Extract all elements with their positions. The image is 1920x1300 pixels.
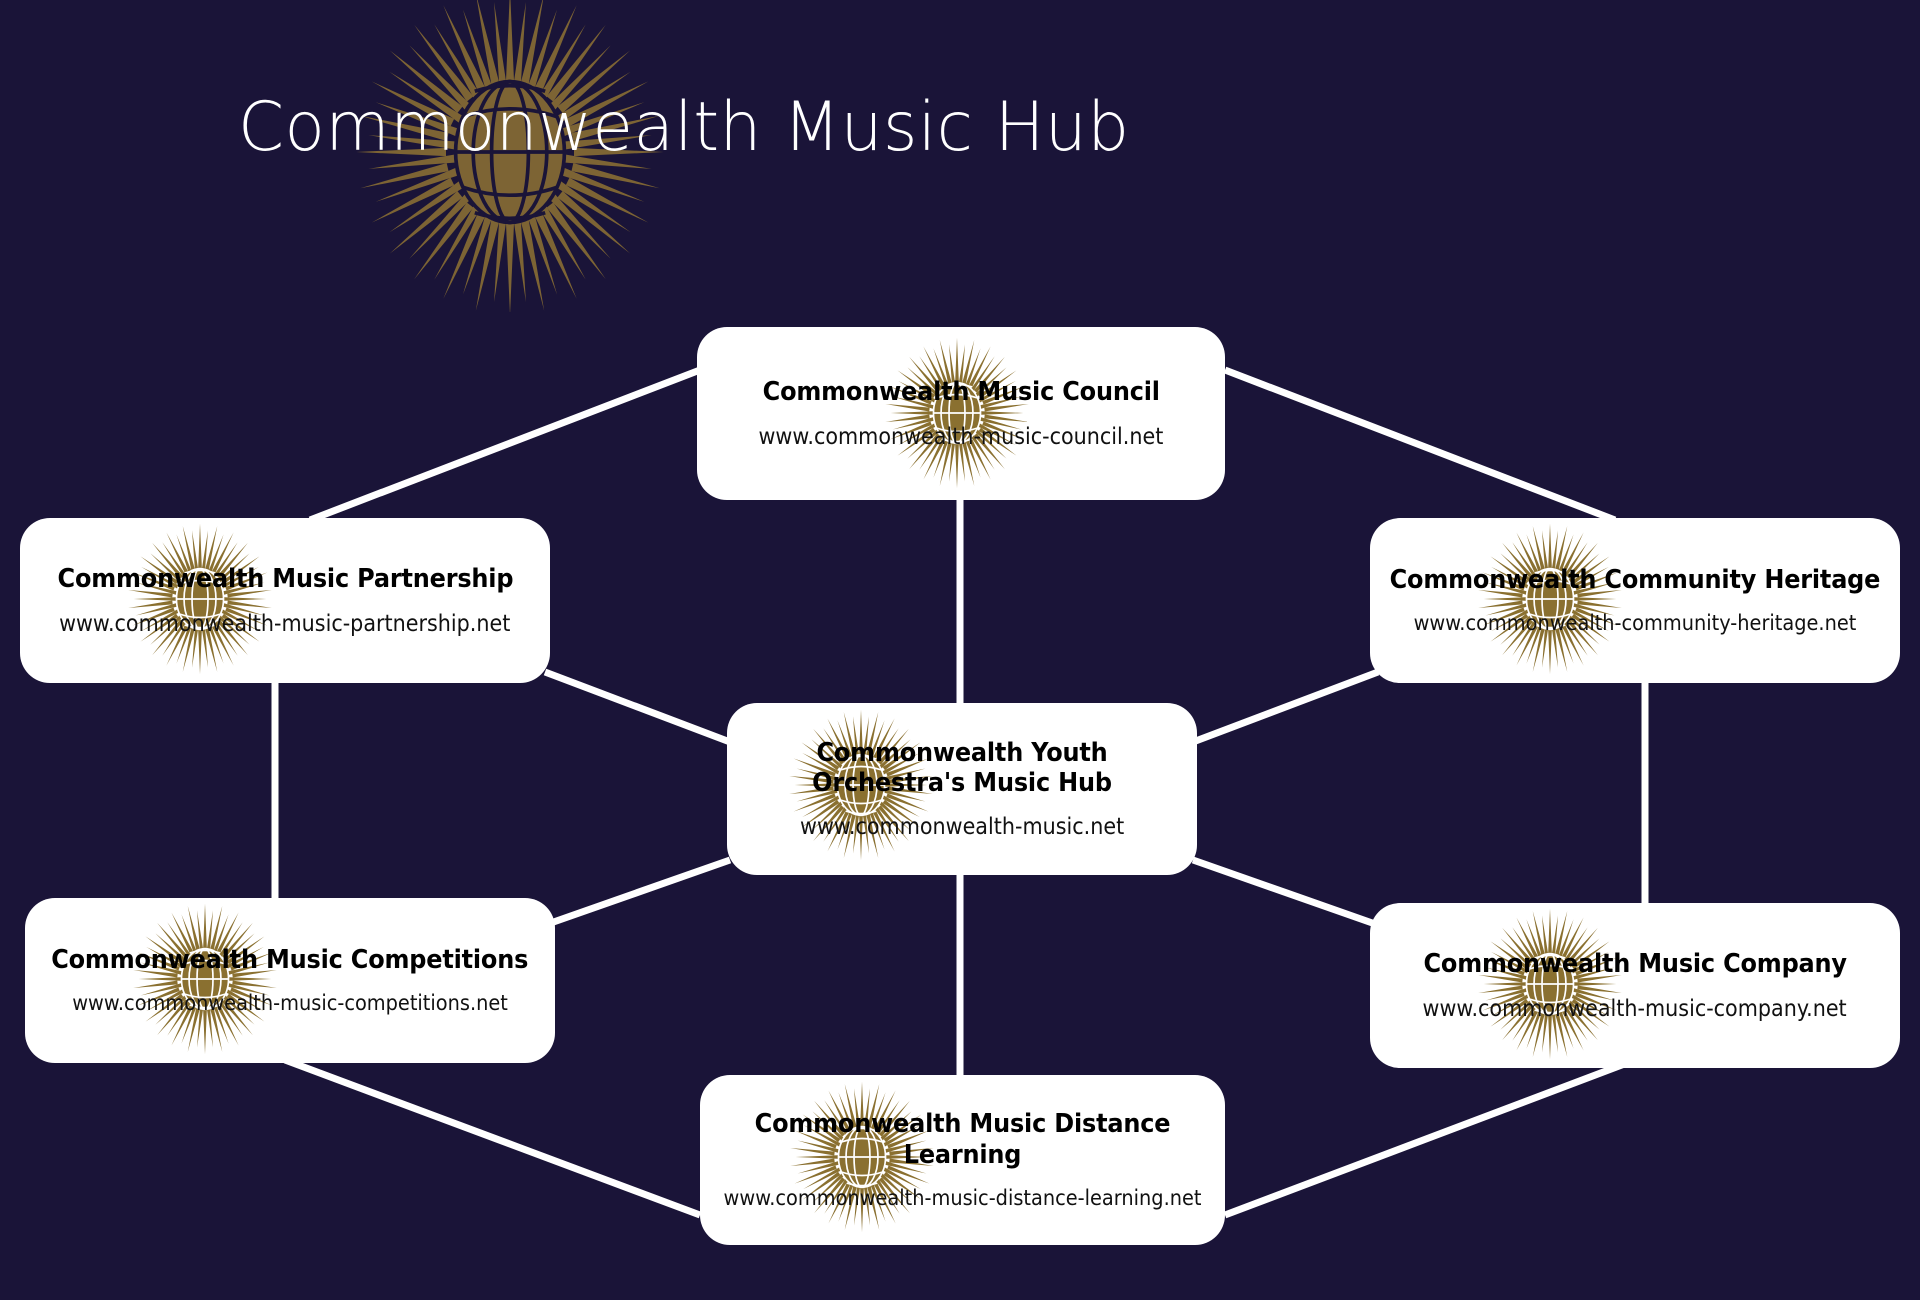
node-title: Commonwealth Music Distance Learning: [716, 1109, 1210, 1169]
node-url: www.commonwealth-community-heritage.net: [1414, 611, 1857, 636]
node-company[interactable]: Commonwealth Music Company www.commonwea…: [1370, 903, 1900, 1068]
node-hub[interactable]: Commonwealth Youth Orchestra's Music Hub…: [727, 703, 1197, 875]
diagram-canvas: Commonwealth Music Hub: [0, 0, 1920, 1300]
node-partnership[interactable]: Commonwealth Music Partnership www.commo…: [20, 518, 550, 683]
node-heritage[interactable]: Commonwealth Community Heritage www.comm…: [1370, 518, 1900, 683]
node-title: Commonwealth Music Council: [762, 377, 1159, 407]
link-council-heritage: [1225, 370, 1615, 520]
link-competitions-distance: [285, 1060, 700, 1215]
commonwealth-globe-icon: [121, 898, 289, 1063]
node-title: Commonwealth Youth Orchestra's Music Hub: [774, 738, 1150, 798]
node-council[interactable]: Commonwealth Music Council www.commonwea…: [697, 327, 1225, 500]
node-title: Commonwealth Music Partnership: [57, 564, 513, 594]
commonwealth-globe-icon: [116, 518, 284, 683]
node-title: Commonwealth Music Company: [1423, 949, 1846, 979]
commonwealth-globe-icon: [1466, 903, 1634, 1068]
link-partnership-hub: [545, 672, 730, 742]
link-hub-company: [1193, 860, 1378, 925]
node-title: Commonwealth Community Heritage: [1390, 565, 1881, 595]
commonwealth-globe-icon: [873, 329, 1041, 497]
node-url: www.commonwealth-music-council.net: [759, 424, 1164, 450]
node-distance-learning[interactable]: Commonwealth Music Distance Learning www…: [700, 1075, 1225, 1245]
link-company-distance: [1225, 1060, 1635, 1215]
link-heritage-hub: [1193, 672, 1378, 742]
node-url: www.commonwealth-music-competitions.net: [72, 991, 508, 1016]
node-url: www.commonwealth-music-company.net: [1423, 996, 1847, 1022]
commonwealth-globe-icon: [1466, 518, 1634, 683]
node-title: Commonwealth Music Competitions: [52, 945, 529, 975]
node-competitions[interactable]: Commonwealth Music Competitions www.comm…: [25, 898, 555, 1063]
node-url: www.commonwealth-music-partnership.net: [59, 611, 510, 637]
link-council-partnership: [310, 370, 700, 520]
node-url: www.commonwealth-music-distance-learning…: [724, 1186, 1202, 1211]
node-url: www.commonwealth-music.net: [800, 814, 1124, 840]
link-hub-competitions: [545, 860, 730, 925]
